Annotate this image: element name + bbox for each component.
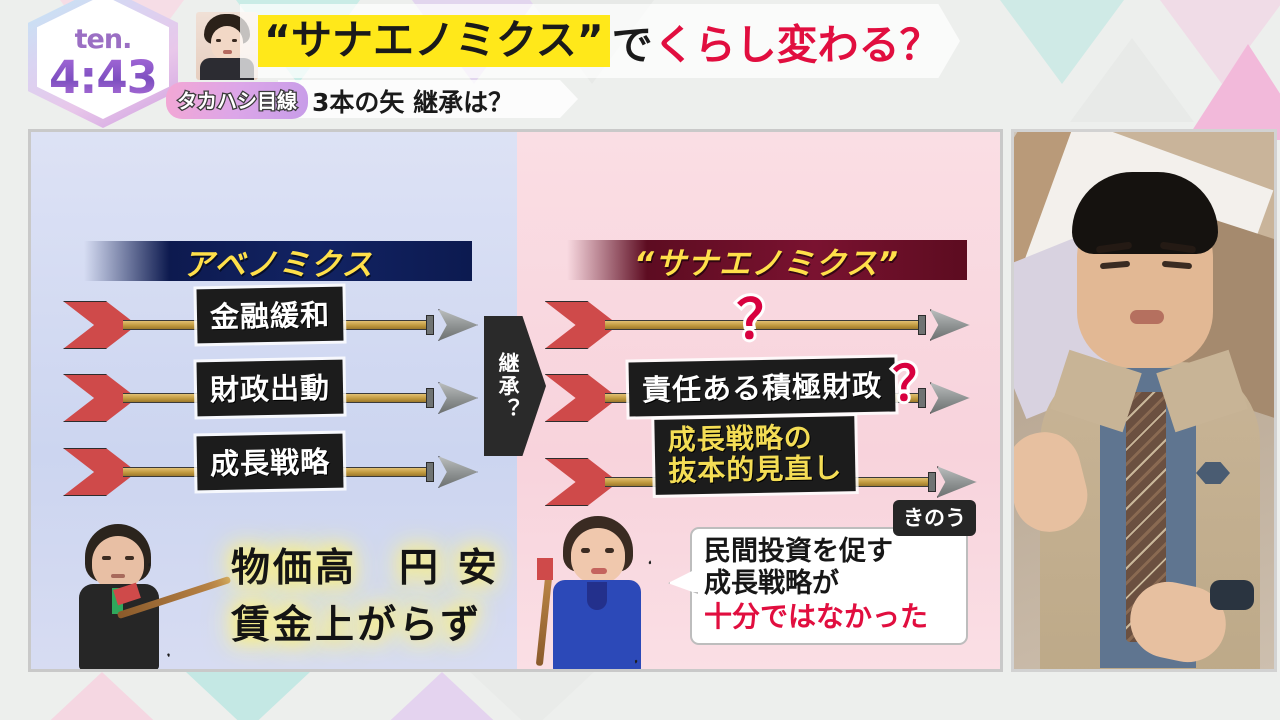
sanaenomics-title-bar: “サナエノミクス” <box>567 240 967 280</box>
bg-triangle <box>186 672 310 720</box>
sanaenomics-label-3-line2: 抜本的見直し <box>667 453 842 488</box>
arrow-nock <box>918 315 926 335</box>
result-text-2: 円 安 <box>399 537 500 593</box>
anchor-eye-left <box>216 39 221 42</box>
question-mark-2: ？ <box>893 344 941 414</box>
inheritance-label: 継承？ <box>493 352 523 421</box>
anchor-face <box>211 26 243 60</box>
quote-line-1: 民間投資を促す <box>704 536 956 568</box>
bg-triangle <box>40 672 164 720</box>
takaichi-eye-right <box>605 548 614 553</box>
commentator-video <box>1011 129 1277 672</box>
clock-time: 4:43 <box>49 55 157 100</box>
takaichi-arrow-fletching <box>537 558 553 580</box>
takaichi-eye-left <box>581 548 590 553</box>
abe-caricature <box>59 520 239 670</box>
abe-eye-right <box>125 556 134 560</box>
headline-question: くらし変わる？ <box>653 11 941 71</box>
sanaenomics-label-3-line1: 成長戦略の <box>667 421 842 456</box>
arrow-nock <box>928 472 936 492</box>
abenomics-label-2-text: 財政出動 <box>210 371 331 407</box>
takaichi-caricature <box>539 514 699 672</box>
arrow-nock <box>426 462 434 482</box>
result-text-1: 物価高 <box>231 537 357 593</box>
abenomics-label-1-text: 金融緩和 <box>210 298 331 334</box>
sanaenomics-label-2-text: 責任ある積極財政 <box>641 369 882 408</box>
abenomics-label-1: 金融緩和 <box>196 287 343 344</box>
commentator-badge: タカハシ目線 <box>166 82 308 119</box>
arrow-head-icon <box>438 309 478 341</box>
commentator-mouth <box>1130 310 1164 324</box>
result-text-3: 賃金上がらず <box>231 594 482 650</box>
arrow-nock <box>426 315 434 335</box>
headline-mid: で <box>610 11 653 71</box>
clock-inner: ten. 4:43 <box>37 0 169 119</box>
program-logo: ten. <box>75 26 132 53</box>
abenomics-label-3: 成長戦略 <box>196 434 343 491</box>
abenomics-title: アベノミクス <box>183 239 373 284</box>
abenomics-section: アベノミクス 金融緩和 財政出動 <box>31 132 517 669</box>
abe-face <box>92 536 144 590</box>
takaichi-mouth <box>591 568 607 574</box>
sanaenomics-label-2: 責任ある積極財政 <box>628 357 895 416</box>
takaichi-arrow-shaft <box>535 566 552 666</box>
arrow-head-icon <box>438 382 478 414</box>
abe-eye-left <box>102 556 111 560</box>
question-mark-1: ？ <box>737 275 791 354</box>
bg-triangle <box>1070 38 1194 122</box>
bg-triangle <box>1186 44 1280 140</box>
speech-bubble: 民間投資を促す 成長戦略が 十分ではなかった <box>690 527 968 645</box>
arrow-head-icon <box>930 309 970 341</box>
broadcast-screen: ten. 4:43 “サナエノミクス” で くらし変わる？ タカハシ目線 3本の… <box>0 0 1280 720</box>
abe-mouth <box>111 574 125 578</box>
abenomics-label-3-text: 成長戦略 <box>210 445 331 481</box>
quote-line-2: 成長戦略が <box>704 568 956 600</box>
commentator-wristwatch <box>1210 580 1254 610</box>
arrow-head-icon <box>937 466 977 498</box>
quote-line-3: 十分ではなかった <box>704 600 956 633</box>
arrow-head-icon <box>438 456 478 488</box>
takaichi-blouse <box>587 582 607 610</box>
clock-badge: ten. 4:43 <box>28 0 178 128</box>
takaichi-face <box>571 528 625 584</box>
quote-date-badge: きのう <box>893 500 976 536</box>
sanaenomics-label-3: 成長戦略の 抜本的見直し <box>654 416 855 495</box>
headline: “サナエノミクス” で くらし変わる？ <box>258 10 941 72</box>
anchor-eye-right <box>232 39 237 42</box>
headline-highlight: “サナエノミクス” <box>258 15 610 67</box>
abenomics-label-2: 財政出動 <box>196 360 343 417</box>
arrow-nock <box>426 388 434 408</box>
subheadline: 3本の矢 継承は？ <box>312 83 513 119</box>
anchor-mouth <box>223 50 232 54</box>
abenomics-title-bar: アベノミクス <box>84 241 472 281</box>
bg-triangle <box>470 672 594 720</box>
